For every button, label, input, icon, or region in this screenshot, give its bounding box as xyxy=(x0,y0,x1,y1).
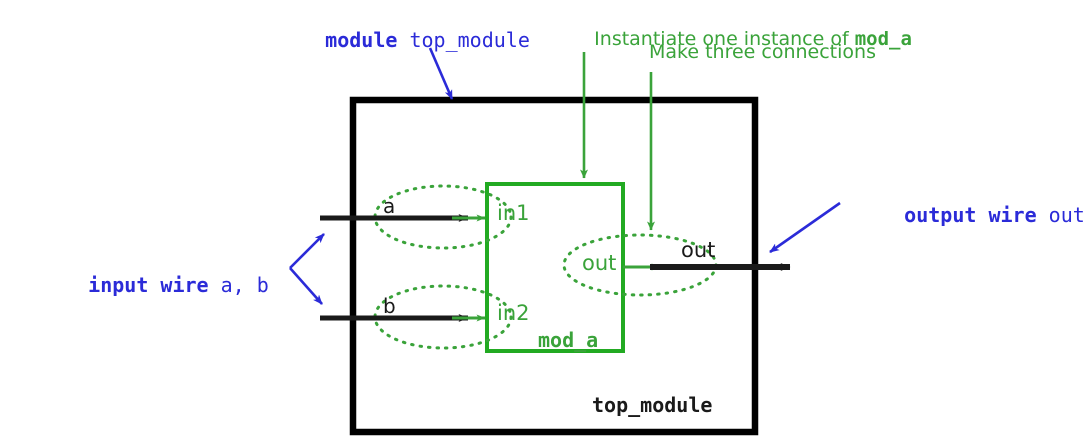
mod-a-label: mod_a xyxy=(538,330,598,350)
annotation-output-names: out xyxy=(1037,203,1085,227)
wire-label-a: a xyxy=(383,196,395,216)
annotation-module-declaration: module top_module xyxy=(277,10,530,70)
diagram-canvas: module top_module Instantiate one instan… xyxy=(0,0,1089,445)
leader-arrow-output xyxy=(770,203,840,252)
annotation-output-wire: output wire out xyxy=(856,185,1085,245)
annotation-input-keyword: input wire xyxy=(88,273,208,297)
wire-label-b: b xyxy=(383,296,396,316)
port-label-in2: in2 xyxy=(497,303,530,324)
annotation-module-name: top_module xyxy=(409,28,529,52)
annotation-output-keyword: output wire xyxy=(904,203,1036,227)
annotation-input-wire: input wire a, b xyxy=(40,255,269,315)
port-label-in1: in1 xyxy=(497,203,530,224)
port-label-out: out xyxy=(582,253,616,274)
annotation-module-keyword: module xyxy=(325,28,397,52)
top-module-label: top_module xyxy=(592,395,712,415)
annotation-input-names: a, b xyxy=(209,273,269,297)
leader-arrow-inputs xyxy=(290,234,324,304)
wire-label-out: out xyxy=(681,240,715,261)
annotation-instantiate-line2: Make three connections xyxy=(649,43,876,62)
